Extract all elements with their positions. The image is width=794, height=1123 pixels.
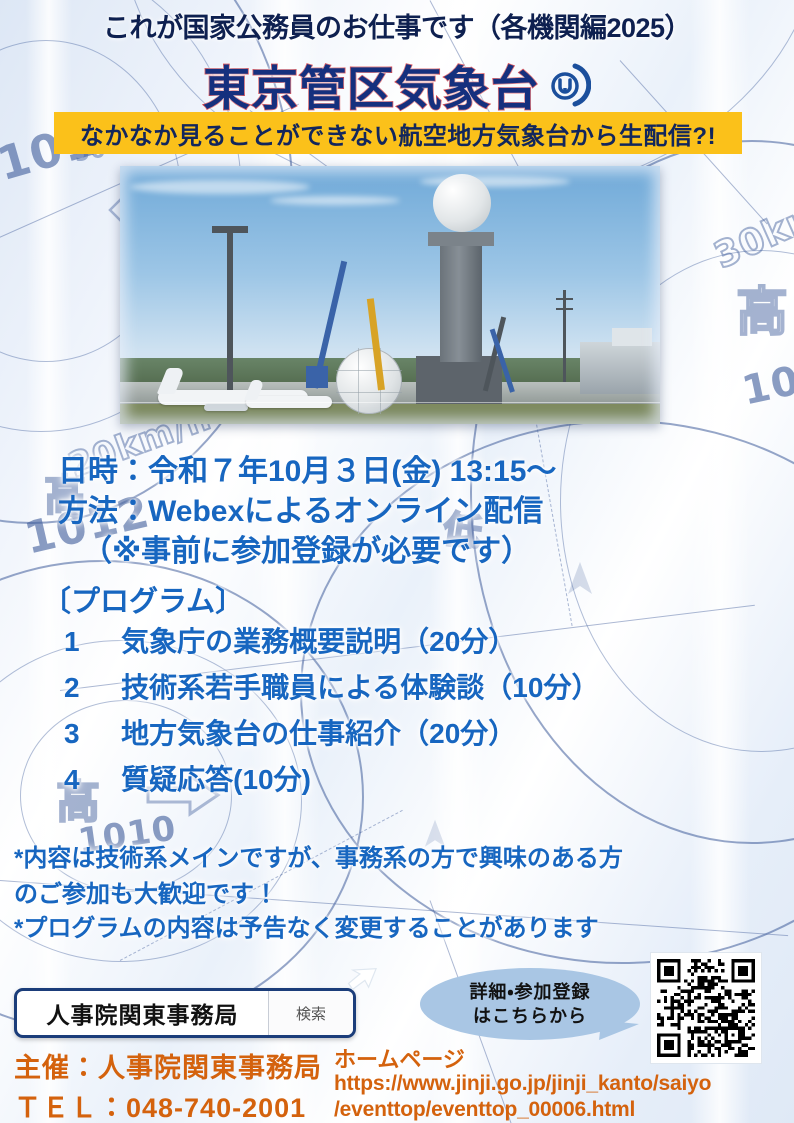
program-item-label: 質疑応答(10分) — [121, 764, 311, 795]
bubble-tail — [599, 1020, 639, 1044]
note-line: *内容は技術系メインですが、事務系の方で興味のある方 — [14, 838, 623, 873]
program-item: 4 質疑応答(10分) — [64, 758, 311, 798]
detail-note: （※事前に参加登録が必要です） — [82, 526, 531, 570]
jma-logo-icon — [545, 62, 591, 108]
bubble-line-2: はこちらから — [473, 1004, 587, 1028]
detail-method: 方法：Webexによるオンライン配信 — [58, 486, 543, 530]
program-item-label: 気象庁の業務概要説明（20分） — [121, 626, 516, 657]
detail-datetime: 日時：令和７年10月３日(金) 13:15〜 — [58, 446, 556, 490]
homepage-url-line-2[interactable]: /eventtop/eventtop_00006.html — [334, 1098, 635, 1122]
program-item-number: 2 — [64, 672, 80, 703]
cursor-arrow-icon — [344, 962, 378, 1006]
tel-line: ＴＥＬ：048-740-2001 — [14, 1086, 306, 1123]
highlight-banner: なかなか見ることができない航空地方気象台から生配信?! — [54, 112, 742, 154]
qr-code[interactable] — [650, 952, 762, 1064]
note-line: *プログラムの内容は予告なく変更することがあります — [14, 908, 599, 943]
radar-tower-photo — [120, 166, 660, 424]
highlight-banner-text: なかなか見ることができない航空地方気象台から生配信?! — [80, 116, 716, 151]
program-item-number: 3 — [64, 718, 80, 749]
homepage-url-line-1[interactable]: https://www.jinji.go.jp/jinji_kanto/saiy… — [334, 1072, 711, 1096]
host-line: 主催：人事院関東事務局 — [14, 1046, 322, 1085]
radome-small-icon — [336, 348, 402, 414]
program-item-number: 1 — [64, 626, 80, 657]
series-title: これが国家公務員のお仕事です（各機関編2025） — [0, 6, 794, 45]
organization-title-row: 東京管区気象台 — [0, 50, 794, 119]
program-item-label: 地方気象台の仕事紹介（20分） — [121, 718, 516, 749]
search-box[interactable]: 人事院関東事務局 検索 — [14, 988, 356, 1038]
bg-label-high-right: 高 — [736, 270, 789, 345]
program-heading: 〔プログラム〕 — [42, 578, 244, 620]
program-item-number: 4 — [64, 764, 80, 795]
page-title: 東京管区気象台 — [203, 50, 539, 119]
program-item: 3 地方気象台の仕事紹介（20分） — [64, 712, 516, 752]
program-item-label: 技術系若手職員による体験談（10分） — [121, 672, 599, 703]
homepage-label: ホームページ — [334, 1042, 465, 1074]
search-input[interactable]: 人事院関東事務局 — [17, 996, 268, 1030]
program-item: 2 技術系若手職員による体験談（10分） — [64, 666, 599, 706]
poster-root: 1016 1012 1010 50 30km/h 20km/h 高 高 高 低 … — [0, 0, 794, 1123]
bubble-line-1: 詳細・参加登録 — [469, 980, 590, 1004]
program-item: 1 気象庁の業務概要説明（20分） — [64, 620, 516, 660]
note-line: のご参加も大歓迎です！ — [14, 874, 278, 909]
search-button[interactable]: 検索 — [268, 991, 353, 1035]
bg-front-arrow-icon — [560, 560, 600, 600]
radome-large-icon — [433, 174, 491, 232]
